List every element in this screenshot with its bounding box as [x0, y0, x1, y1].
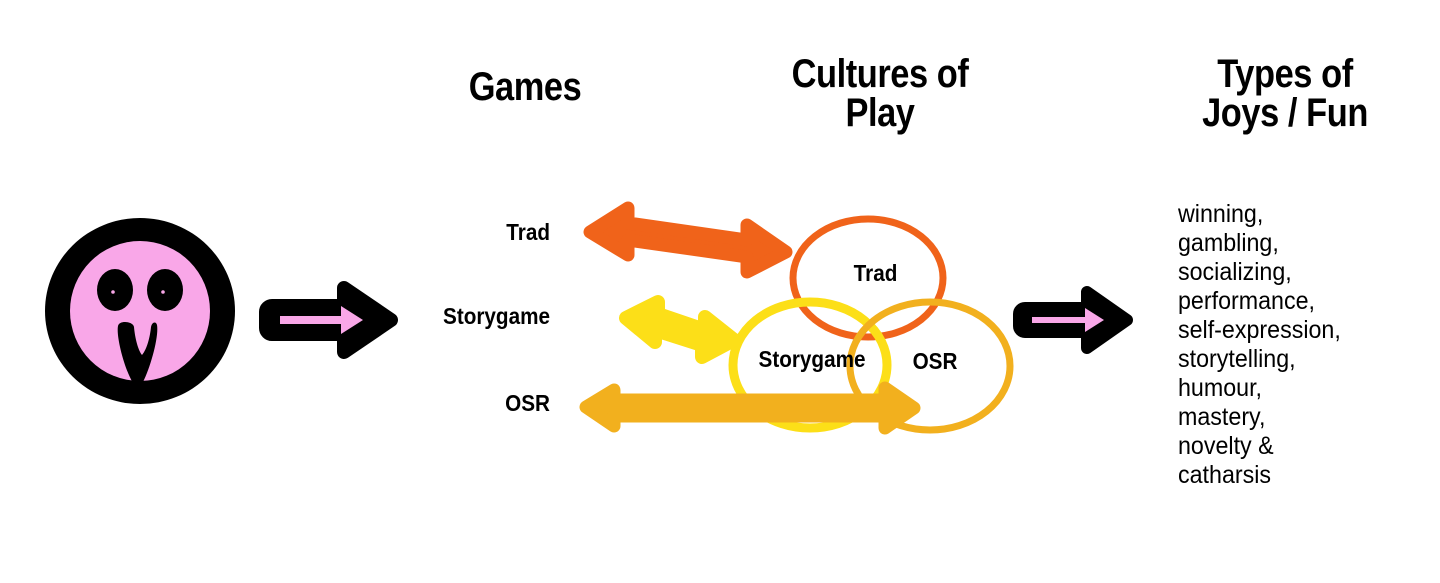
venn-label-osr: OSR: [881, 350, 989, 373]
games-row-label-storygame: Storygame: [397, 305, 550, 328]
avatar-eye-glint-left: [111, 290, 115, 294]
games-arrow-storygame: [626, 302, 734, 357]
venn-label-trad: Trad: [815, 262, 937, 285]
diagram-canvas: Games Cultures of Play Types of Joys / F…: [0, 0, 1440, 583]
avatar-eye-glint-right: [161, 290, 165, 294]
games-arrow-osr: [586, 388, 914, 428]
games-arrow-trad-shape: [590, 208, 786, 272]
games-row-label-trad: Trad: [397, 221, 550, 244]
games-arrow-trad: [590, 208, 786, 272]
games-arrow-osr-shape: [586, 388, 914, 428]
avatar-eye-right: [147, 269, 183, 311]
venn-label-storygame: Storygame: [731, 348, 893, 371]
heading-cultures-of-play: Cultures of Play: [773, 55, 988, 133]
games-row-label-osr: OSR: [397, 392, 550, 415]
joys-list: winning, gambling, socializing, performa…: [1178, 200, 1411, 490]
heading-types-of-joys: Types of Joys / Fun: [1169, 55, 1401, 133]
smiley-face-avatar: [45, 218, 235, 404]
connector-arrow-left: [266, 288, 391, 352]
games-arrow-storygame-shape: [626, 302, 734, 357]
connector-arrow-right: [1019, 292, 1127, 348]
avatar-eye-left: [97, 269, 133, 311]
heading-games: Games: [418, 68, 633, 107]
